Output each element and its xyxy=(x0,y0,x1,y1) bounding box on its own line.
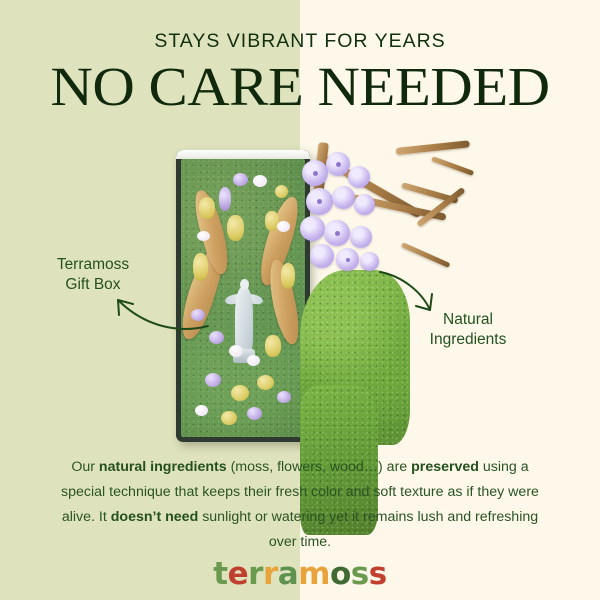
frame-top-edge xyxy=(176,150,310,159)
dried-flower xyxy=(247,355,260,366)
frame-inner-moss xyxy=(181,159,305,437)
body-emphasis: doesn’t need xyxy=(111,509,199,525)
page-title: NO CARE NEEDED xyxy=(0,57,600,117)
poster: STAYS VIBRANT FOR YEARS NO CARE NEEDED xyxy=(0,0,600,600)
annotation-gift-box-line2: Gift Box xyxy=(18,275,168,295)
annotation-gift-box: Terramoss Gift Box xyxy=(18,255,168,295)
kicker-text: STAYS VIBRANT FOR YEARS xyxy=(0,30,600,53)
dried-flower xyxy=(209,331,224,344)
body-emphasis: preserved xyxy=(411,459,479,475)
dried-flower xyxy=(219,187,231,211)
dried-flower xyxy=(199,197,215,219)
logo-letter: r xyxy=(263,556,278,592)
dried-flower xyxy=(277,221,290,232)
phlox-flower xyxy=(354,194,375,215)
body-text: Our xyxy=(71,459,99,475)
driftwood-branch xyxy=(431,156,474,176)
dried-flower xyxy=(205,373,221,387)
phlox-flower xyxy=(332,186,355,209)
dried-flower xyxy=(195,405,208,416)
logo-letter: t xyxy=(213,556,227,592)
phlox-center xyxy=(313,171,318,176)
annotation-natural-ingredients: Natural Ingredients xyxy=(398,310,538,350)
dried-flower xyxy=(231,385,249,401)
dried-flower xyxy=(247,407,262,420)
phlox-center xyxy=(346,258,350,262)
dried-flower xyxy=(229,345,243,357)
logo-letter: o xyxy=(330,556,351,592)
dried-flower xyxy=(233,173,248,186)
phlox-flower xyxy=(300,216,325,241)
phlox-center xyxy=(335,231,340,236)
phlox-flower xyxy=(350,226,372,248)
phlox-flower xyxy=(348,166,370,188)
phlox-flower xyxy=(360,252,379,271)
annotation-natural-ingredients-line2: Ingredients xyxy=(398,330,538,350)
driftwood-branch xyxy=(396,140,470,155)
annotation-natural-ingredients-line1: Natural xyxy=(398,310,538,330)
logo-letter: r xyxy=(248,556,263,592)
dried-flower xyxy=(275,185,288,198)
phlox-flower xyxy=(310,244,334,268)
logo-letter: a xyxy=(278,556,298,592)
body-text: (moss, flowers, wood…) are xyxy=(227,459,412,475)
dried-flower xyxy=(227,215,244,241)
driftwood-branch xyxy=(401,242,451,268)
body-emphasis: natural ingredients xyxy=(99,459,227,475)
logo-letter: s xyxy=(351,556,369,592)
statue-head xyxy=(240,279,249,290)
dried-flower xyxy=(197,231,210,241)
terramoss-logo: terramoss xyxy=(0,556,600,592)
dried-flower xyxy=(193,253,208,281)
statue-body xyxy=(235,287,253,353)
dried-flower xyxy=(281,263,295,289)
dried-flower xyxy=(221,411,237,425)
logo-letter: s xyxy=(369,556,387,592)
dried-flower xyxy=(191,309,205,321)
body-paragraph: Our natural ingredients (moss, flowers, … xyxy=(50,455,550,555)
logo-letter: e xyxy=(228,556,249,592)
phlox-center xyxy=(336,162,341,167)
dried-flower xyxy=(257,375,274,390)
annotation-gift-box-line1: Terramoss xyxy=(18,255,168,275)
phlox-center xyxy=(317,199,322,204)
dried-flower xyxy=(253,175,267,187)
logo-letter: m xyxy=(298,556,330,592)
body-text: sunlight or watering yet it remains lush… xyxy=(198,509,538,550)
terramoss-gift-box-image xyxy=(176,150,310,442)
dried-flower xyxy=(265,335,281,357)
dried-flower xyxy=(277,391,291,403)
